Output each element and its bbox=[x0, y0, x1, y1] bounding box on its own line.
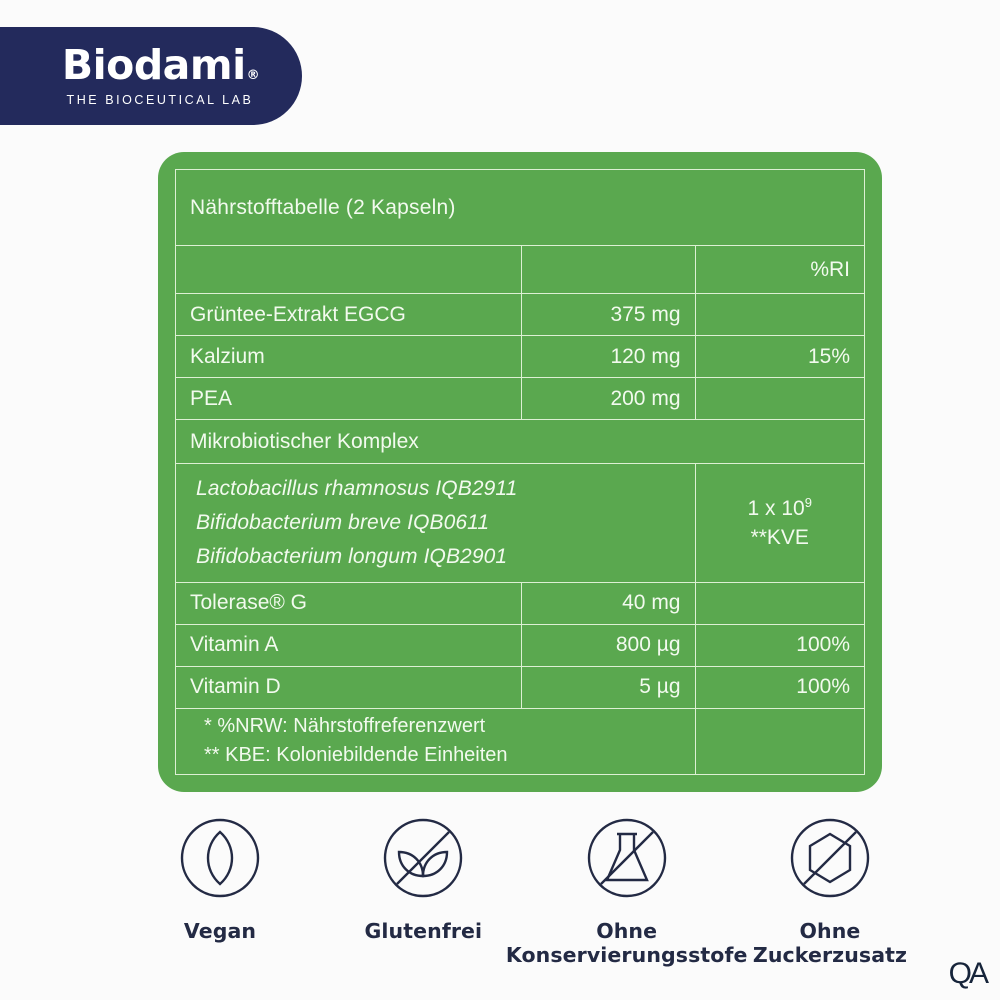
nutrition-table-title: Nährstofftabelle (2 Kapseln) bbox=[176, 170, 865, 246]
table-row: Grüntee-Extrakt EGCG 375 mg bbox=[176, 294, 865, 336]
no-preservatives-flask-icon bbox=[581, 812, 673, 904]
nutrient-amount: 120 mg bbox=[521, 336, 695, 378]
registered-trademark-icon: ® bbox=[247, 68, 260, 83]
nutrient-name: Tolerase® G bbox=[176, 582, 522, 624]
nutrient-amount: 200 mg bbox=[521, 378, 695, 420]
table-footnotes-row: * %NRW: Nährstoffreferenzwert ** KBE: Ko… bbox=[176, 708, 865, 774]
nutrient-name: PEA bbox=[176, 378, 522, 420]
nutrient-ri bbox=[695, 294, 865, 336]
feature-caption: Glutenfrei bbox=[364, 919, 482, 943]
nutrition-table: Nährstofftabelle (2 Kapseln) %RI Grüntee… bbox=[175, 169, 865, 775]
strain-item: Bifidobacterium breve IQB0611 bbox=[190, 506, 681, 540]
cfu-base: 1 x 10 bbox=[748, 497, 805, 520]
leaf-circle-icon bbox=[174, 812, 266, 904]
footnotes-cell: * %NRW: Nährstoffreferenzwert ** KBE: Ko… bbox=[176, 708, 696, 774]
nutrient-ri: 100% bbox=[695, 666, 865, 708]
nutrient-name: Kalzium bbox=[176, 336, 522, 378]
nutrient-name: Vitamin D bbox=[176, 666, 522, 708]
feature-caption: OhneKonservierungsstofe bbox=[506, 919, 748, 967]
nutrient-ri: 15% bbox=[695, 336, 865, 378]
table-row: Kalzium 120 mg 15% bbox=[176, 336, 865, 378]
table-row: PEA 200 mg bbox=[176, 378, 865, 420]
strain-list-cell: Lactobacillus rhamnosus IQB2911 Bifidoba… bbox=[176, 464, 696, 582]
table-row: Tolerase® G 40 mg bbox=[176, 582, 865, 624]
table-row: Vitamin A 800 µg 100% bbox=[176, 624, 865, 666]
nutrition-panel: Nährstofftabelle (2 Kapseln) %RI Grüntee… bbox=[158, 152, 882, 792]
cfu-unit: **KVE bbox=[751, 526, 809, 549]
nutrient-amount: 5 µg bbox=[521, 666, 695, 708]
nutrient-name: Grüntee-Extrakt EGCG bbox=[176, 294, 522, 336]
brand-logo: Biodami® THE BIOCEUTICAL LAB bbox=[0, 27, 302, 125]
feature-badges: Vegan Glutenfrei OhneKonservierungsstofe bbox=[120, 812, 930, 967]
table-section-row: Mikrobiotischer Komplex bbox=[176, 420, 865, 464]
nutrient-ri bbox=[695, 378, 865, 420]
feature-caption: Vegan bbox=[184, 919, 256, 943]
feature-caption: OhneZuckerzusatz bbox=[753, 919, 907, 967]
column-header-name bbox=[176, 246, 522, 294]
feature-no-preservatives: OhneKonservierungsstofe bbox=[527, 812, 727, 967]
brand-wordmark: Biodami® bbox=[62, 45, 258, 86]
feature-no-added-sugar: OhneZuckerzusatz bbox=[730, 812, 930, 967]
table-title-row: Nährstofftabelle (2 Kapseln) bbox=[176, 170, 865, 246]
footnotes-empty-cell bbox=[695, 708, 865, 774]
nutrient-ri bbox=[695, 582, 865, 624]
table-strains-row: Lactobacillus rhamnosus IQB2911 Bifidoba… bbox=[176, 464, 865, 582]
corner-watermark: QA bbox=[949, 957, 986, 991]
no-gluten-icon bbox=[377, 812, 469, 904]
strain-cfu-value: 1 x 109 **KVE bbox=[695, 464, 865, 582]
table-header-row: %RI bbox=[176, 246, 865, 294]
strain-item: Bifidobacterium longum IQB2901 bbox=[190, 540, 681, 574]
column-header-ri: %RI bbox=[695, 246, 865, 294]
no-added-sugar-icon bbox=[784, 812, 876, 904]
feature-gluten-free: Glutenfrei bbox=[323, 812, 523, 943]
footnote-item: * %NRW: Nährstoffreferenzwert bbox=[204, 712, 681, 741]
nutrient-amount: 40 mg bbox=[521, 582, 695, 624]
nutrient-name: Vitamin A bbox=[176, 624, 522, 666]
table-row: Vitamin D 5 µg 100% bbox=[176, 666, 865, 708]
nutrient-amount: 800 µg bbox=[521, 624, 695, 666]
column-header-amount bbox=[521, 246, 695, 294]
feature-vegan: Vegan bbox=[120, 812, 320, 943]
nutrient-amount: 375 mg bbox=[521, 294, 695, 336]
nutrient-ri: 100% bbox=[695, 624, 865, 666]
strain-item: Lactobacillus rhamnosus IQB2911 bbox=[190, 472, 681, 506]
brand-wordmark-text: Biodami bbox=[62, 41, 246, 89]
section-label: Mikrobiotischer Komplex bbox=[176, 420, 865, 464]
cfu-exponent: 9 bbox=[805, 495, 812, 510]
brand-tagline: THE BIOCEUTICAL LAB bbox=[67, 93, 254, 107]
footnote-item: ** KBE: Koloniebildende Einheiten bbox=[204, 741, 681, 770]
